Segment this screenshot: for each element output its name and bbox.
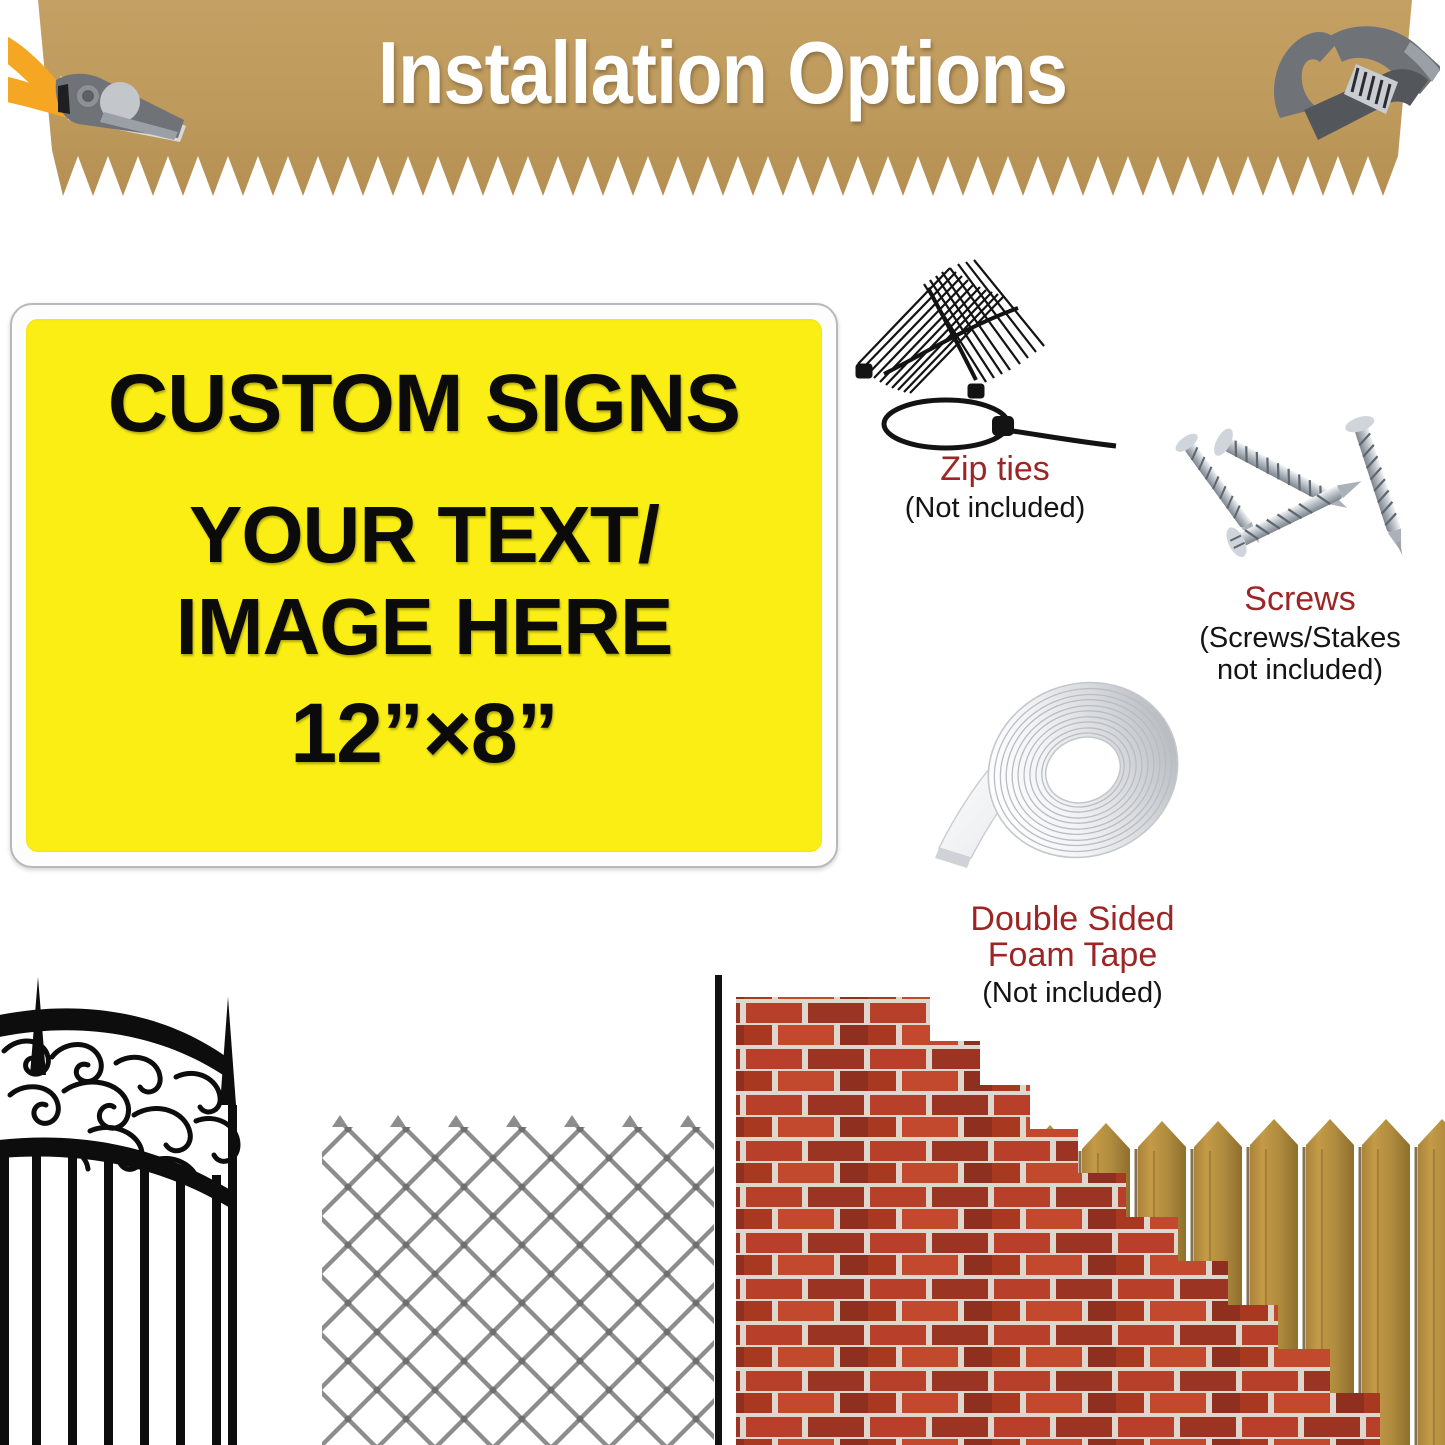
wrench-icon xyxy=(1260,6,1440,166)
mounting-surfaces-scene xyxy=(0,955,1445,1445)
chain-link-fence xyxy=(322,1115,714,1445)
sign-text-line-1: YOUR TEXT/ xyxy=(189,495,659,575)
sign-headline: CUSTOM SIGNS xyxy=(108,363,740,445)
screws-icon xyxy=(1165,412,1435,582)
part-title-foam-tape-line-1: Double Sided xyxy=(905,902,1240,938)
part-note-screws-line-1: (Screws/Stakes xyxy=(1155,622,1445,654)
header-banner: Installation Options xyxy=(0,0,1445,205)
part-title-zip-ties: Zip ties xyxy=(840,452,1150,488)
page-title: Installation Options xyxy=(101,22,1344,124)
foam-tape-roll-icon xyxy=(923,662,1223,902)
part-note-zip-ties: (Not included) xyxy=(840,492,1150,524)
part-zip-ties: Zip ties (Not included) xyxy=(840,252,1150,524)
custom-sign-preview: CUSTOM SIGNS YOUR TEXT/ IMAGE HERE 12”×8… xyxy=(10,303,838,868)
section-divider xyxy=(715,975,722,1445)
part-screws: Screws (Screws/Stakes not included) xyxy=(1155,412,1445,687)
part-title-screws: Screws xyxy=(1155,582,1445,618)
zip-ties-icon xyxy=(850,252,1140,452)
sign-face: CUSTOM SIGNS YOUR TEXT/ IMAGE HERE 12”×8… xyxy=(26,319,822,852)
sign-dimensions: 12”×8” xyxy=(290,691,557,775)
zip-tie-head xyxy=(992,416,1014,436)
sign-text-line-2: IMAGE HERE xyxy=(176,587,673,667)
wrought-iron-gate xyxy=(0,977,238,1445)
